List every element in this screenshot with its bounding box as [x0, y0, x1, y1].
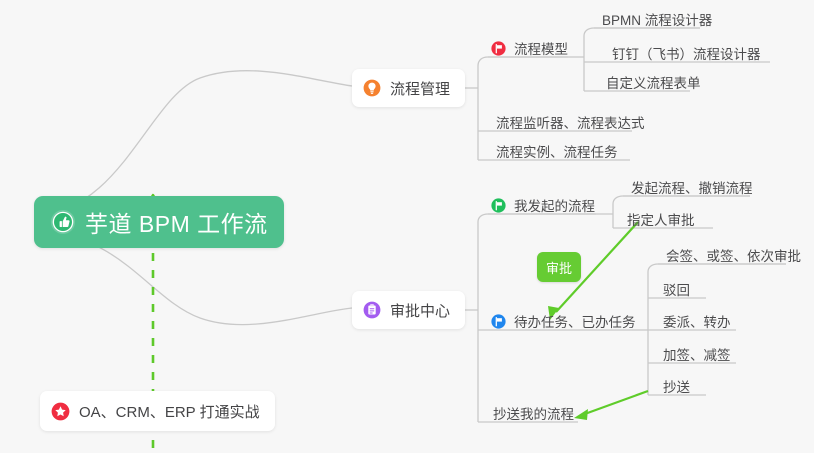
node-start-cancel-process-label: 发起流程、撤销流程 — [631, 182, 753, 196]
lightbulb-icon — [363, 79, 381, 97]
node-dingtalk-feishu-designer-label: 钉钉（飞书）流程设计器 — [612, 48, 761, 62]
edge-cc-to-ccme-arrow — [574, 391, 648, 420]
node-cc-to-me[interactable]: 抄送我的流程 — [487, 397, 581, 424]
node-instance-task[interactable]: 流程实例、流程任务 — [490, 135, 625, 162]
node-custom-process-form[interactable]: 自定义流程表单 — [600, 66, 708, 93]
node-process-model[interactable]: 流程模型 — [489, 32, 575, 59]
node-process-model-label: 流程模型 — [514, 43, 568, 57]
node-cc-label: 抄送 — [663, 381, 690, 395]
mindmap-canvas: 芋道 BPM 工作流 流程管理 流程模型 BPMN 流程设计器 钉 — [0, 0, 814, 453]
clipboard-icon — [363, 301, 381, 319]
flag-icon — [491, 314, 506, 329]
bottom-note-label: OA、CRM、ERP 打通实战 — [79, 401, 260, 422]
node-listener-expression[interactable]: 流程监听器、流程表达式 — [490, 106, 652, 133]
node-todo-done-task-label: 待办任务、已办任务 — [514, 316, 636, 330]
node-listener-expression-label: 流程监听器、流程表达式 — [496, 117, 645, 131]
node-start-cancel-process[interactable]: 发起流程、撤销流程 — [625, 171, 760, 198]
node-cc-to-me-label: 抄送我的流程 — [493, 408, 574, 422]
node-todo-done-task[interactable]: 待办任务、已办任务 — [489, 305, 643, 332]
bottom-note-node[interactable]: OA、CRM、ERP 打通实战 — [40, 391, 275, 431]
root-node[interactable]: 芋道 BPM 工作流 — [34, 196, 284, 248]
node-bpmn-designer[interactable]: BPMN 流程设计器 — [596, 3, 719, 30]
branch-process-management[interactable]: 流程管理 — [352, 69, 465, 107]
branch-approval-center[interactable]: 审批中心 — [352, 291, 465, 329]
flag-icon — [491, 198, 506, 213]
edge-root-to-process-management — [36, 71, 352, 214]
node-delegate-transfer-label: 委派、转办 — [663, 316, 731, 330]
approval-tag-label: 审批 — [546, 258, 572, 277]
node-cc[interactable]: 抄送 — [657, 370, 697, 397]
node-instance-task-label: 流程实例、流程任务 — [496, 146, 618, 160]
node-reject[interactable]: 驳回 — [657, 273, 697, 300]
approval-tag[interactable]: 审批 — [537, 252, 581, 282]
node-countersign[interactable]: 会签、或签、依次审批 — [660, 239, 808, 266]
root-label: 芋道 BPM 工作流 — [85, 205, 268, 239]
node-bpmn-designer-label: BPMN 流程设计器 — [602, 14, 712, 28]
node-custom-process-form-label: 自定义流程表单 — [606, 77, 701, 91]
node-delegate-transfer[interactable]: 委派、转办 — [657, 305, 738, 332]
node-reject-label: 驳回 — [663, 284, 690, 298]
star-badge-icon — [51, 402, 70, 421]
node-my-started-process-label: 我发起的流程 — [514, 200, 595, 214]
node-dingtalk-feishu-designer[interactable]: 钉钉（飞书）流程设计器 — [606, 37, 768, 64]
node-add-remove-sign[interactable]: 加签、减签 — [657, 338, 738, 365]
node-countersign-label: 会签、或签、依次审批 — [666, 250, 801, 264]
branch-approval-center-label: 审批中心 — [390, 300, 450, 321]
thumbs-up-icon — [50, 209, 76, 235]
node-assignee-approval-label: 指定人审批 — [627, 214, 695, 228]
node-add-remove-sign-label: 加签、减签 — [663, 349, 731, 363]
node-assignee-approval[interactable]: 指定人审批 — [621, 203, 702, 230]
branch-process-management-label: 流程管理 — [390, 78, 450, 99]
flag-icon — [491, 41, 506, 56]
node-my-started-process[interactable]: 我发起的流程 — [489, 189, 602, 216]
